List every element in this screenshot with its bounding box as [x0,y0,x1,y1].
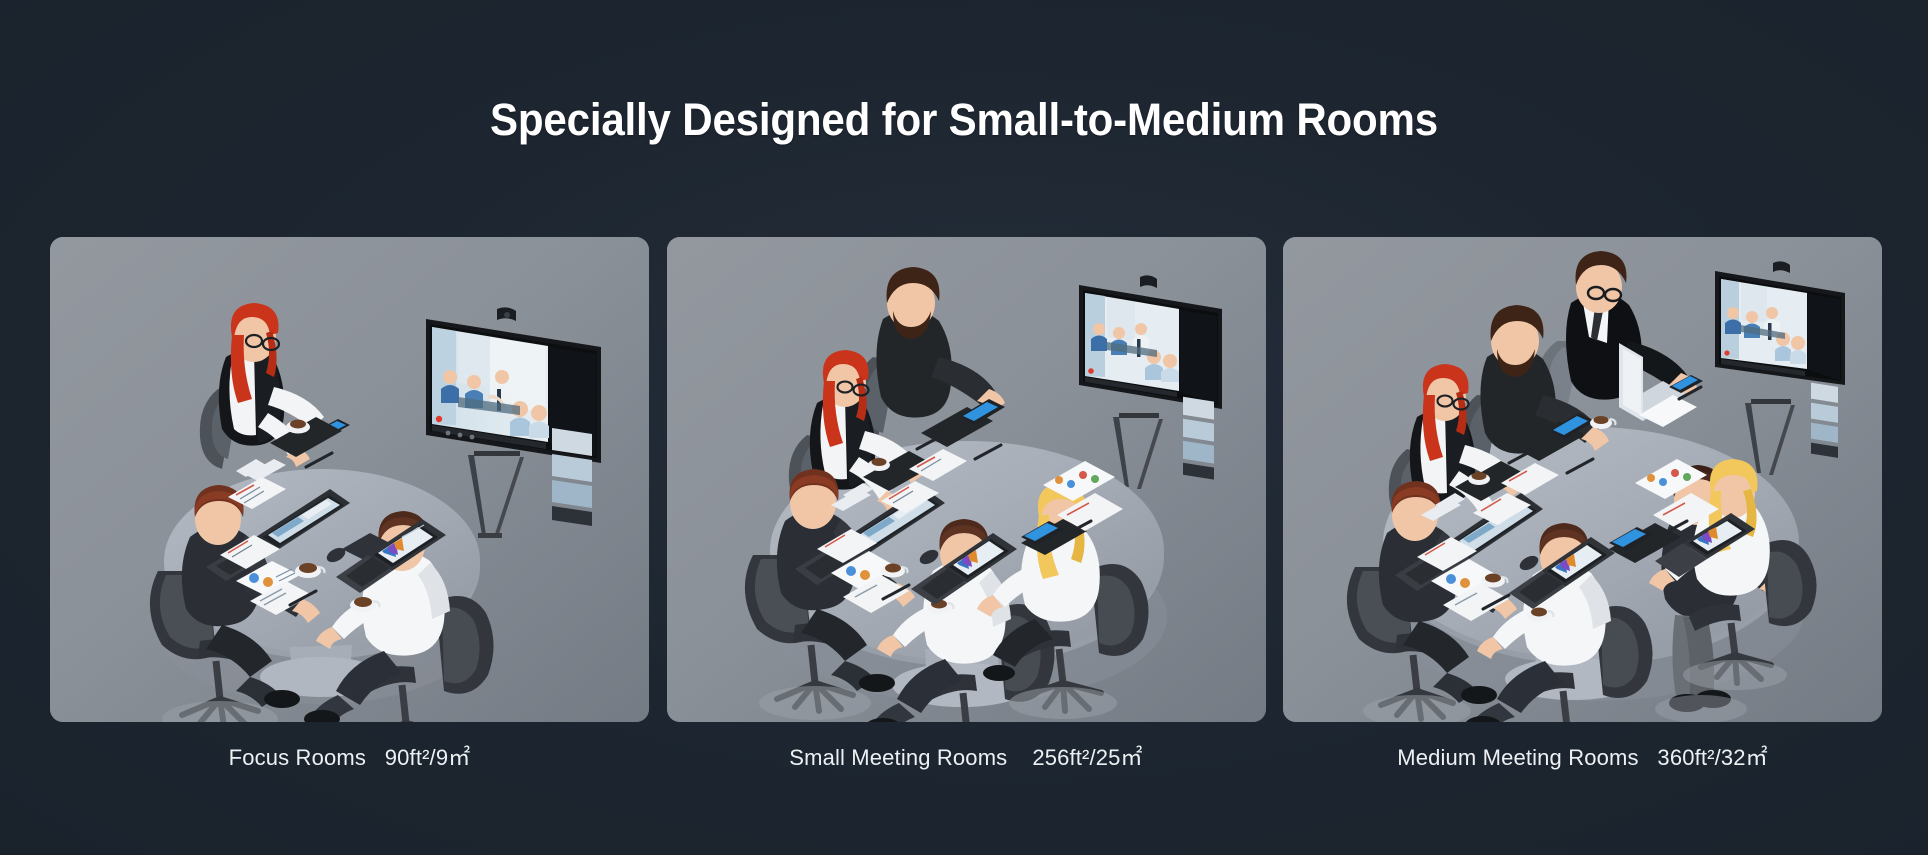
hero-section: Specially Designed for Small-to-Medium R… [0,0,1928,855]
room-panel-focus-room[interactable] [50,237,649,722]
caption-small-meeting-room: Small Meeting Rooms 256ft²/25㎡ [667,740,1266,772]
page-title: Specially Designed for Small-to-Medium R… [63,96,1866,144]
illustration-focus-room [50,237,649,722]
illustration-small-meeting-room [667,237,1266,722]
room-caption-list: Focus Rooms 90ft²/9㎡ Small Meeting Rooms… [50,740,1882,772]
illustration-medium-meeting-room [1283,237,1882,722]
caption-medium-meeting-room: Medium Meeting Rooms 360ft²/32㎡ [1283,740,1882,772]
room-panel-list [50,237,1882,722]
room-panel-medium-meeting-room[interactable] [1283,237,1882,722]
room-panel-small-meeting-room[interactable] [667,237,1266,722]
caption-focus-room: Focus Rooms 90ft²/9㎡ [50,740,649,772]
